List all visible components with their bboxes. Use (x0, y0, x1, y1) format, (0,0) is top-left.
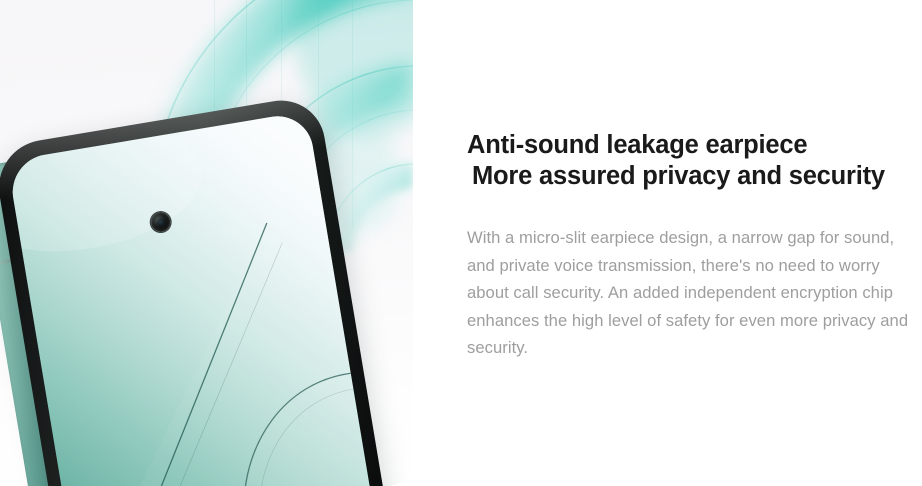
headline-line-2: More assured privacy and security (467, 161, 915, 192)
product-feature-page: Anti-sound leakage earpiece More assured… (0, 0, 922, 486)
product-visual-panel (0, 0, 413, 486)
page-title: Anti-sound leakage earpiece More assured… (467, 130, 915, 192)
wallpaper-art (7, 111, 381, 486)
headline-line-1: Anti-sound leakage earpiece (467, 131, 807, 159)
feature-description: With a micro-slit earpiece design, a nar… (467, 224, 913, 362)
feature-text-column: Anti-sound leakage earpiece More assured… (467, 0, 915, 486)
phone-bezel (0, 94, 393, 486)
phone-screen (7, 111, 381, 486)
